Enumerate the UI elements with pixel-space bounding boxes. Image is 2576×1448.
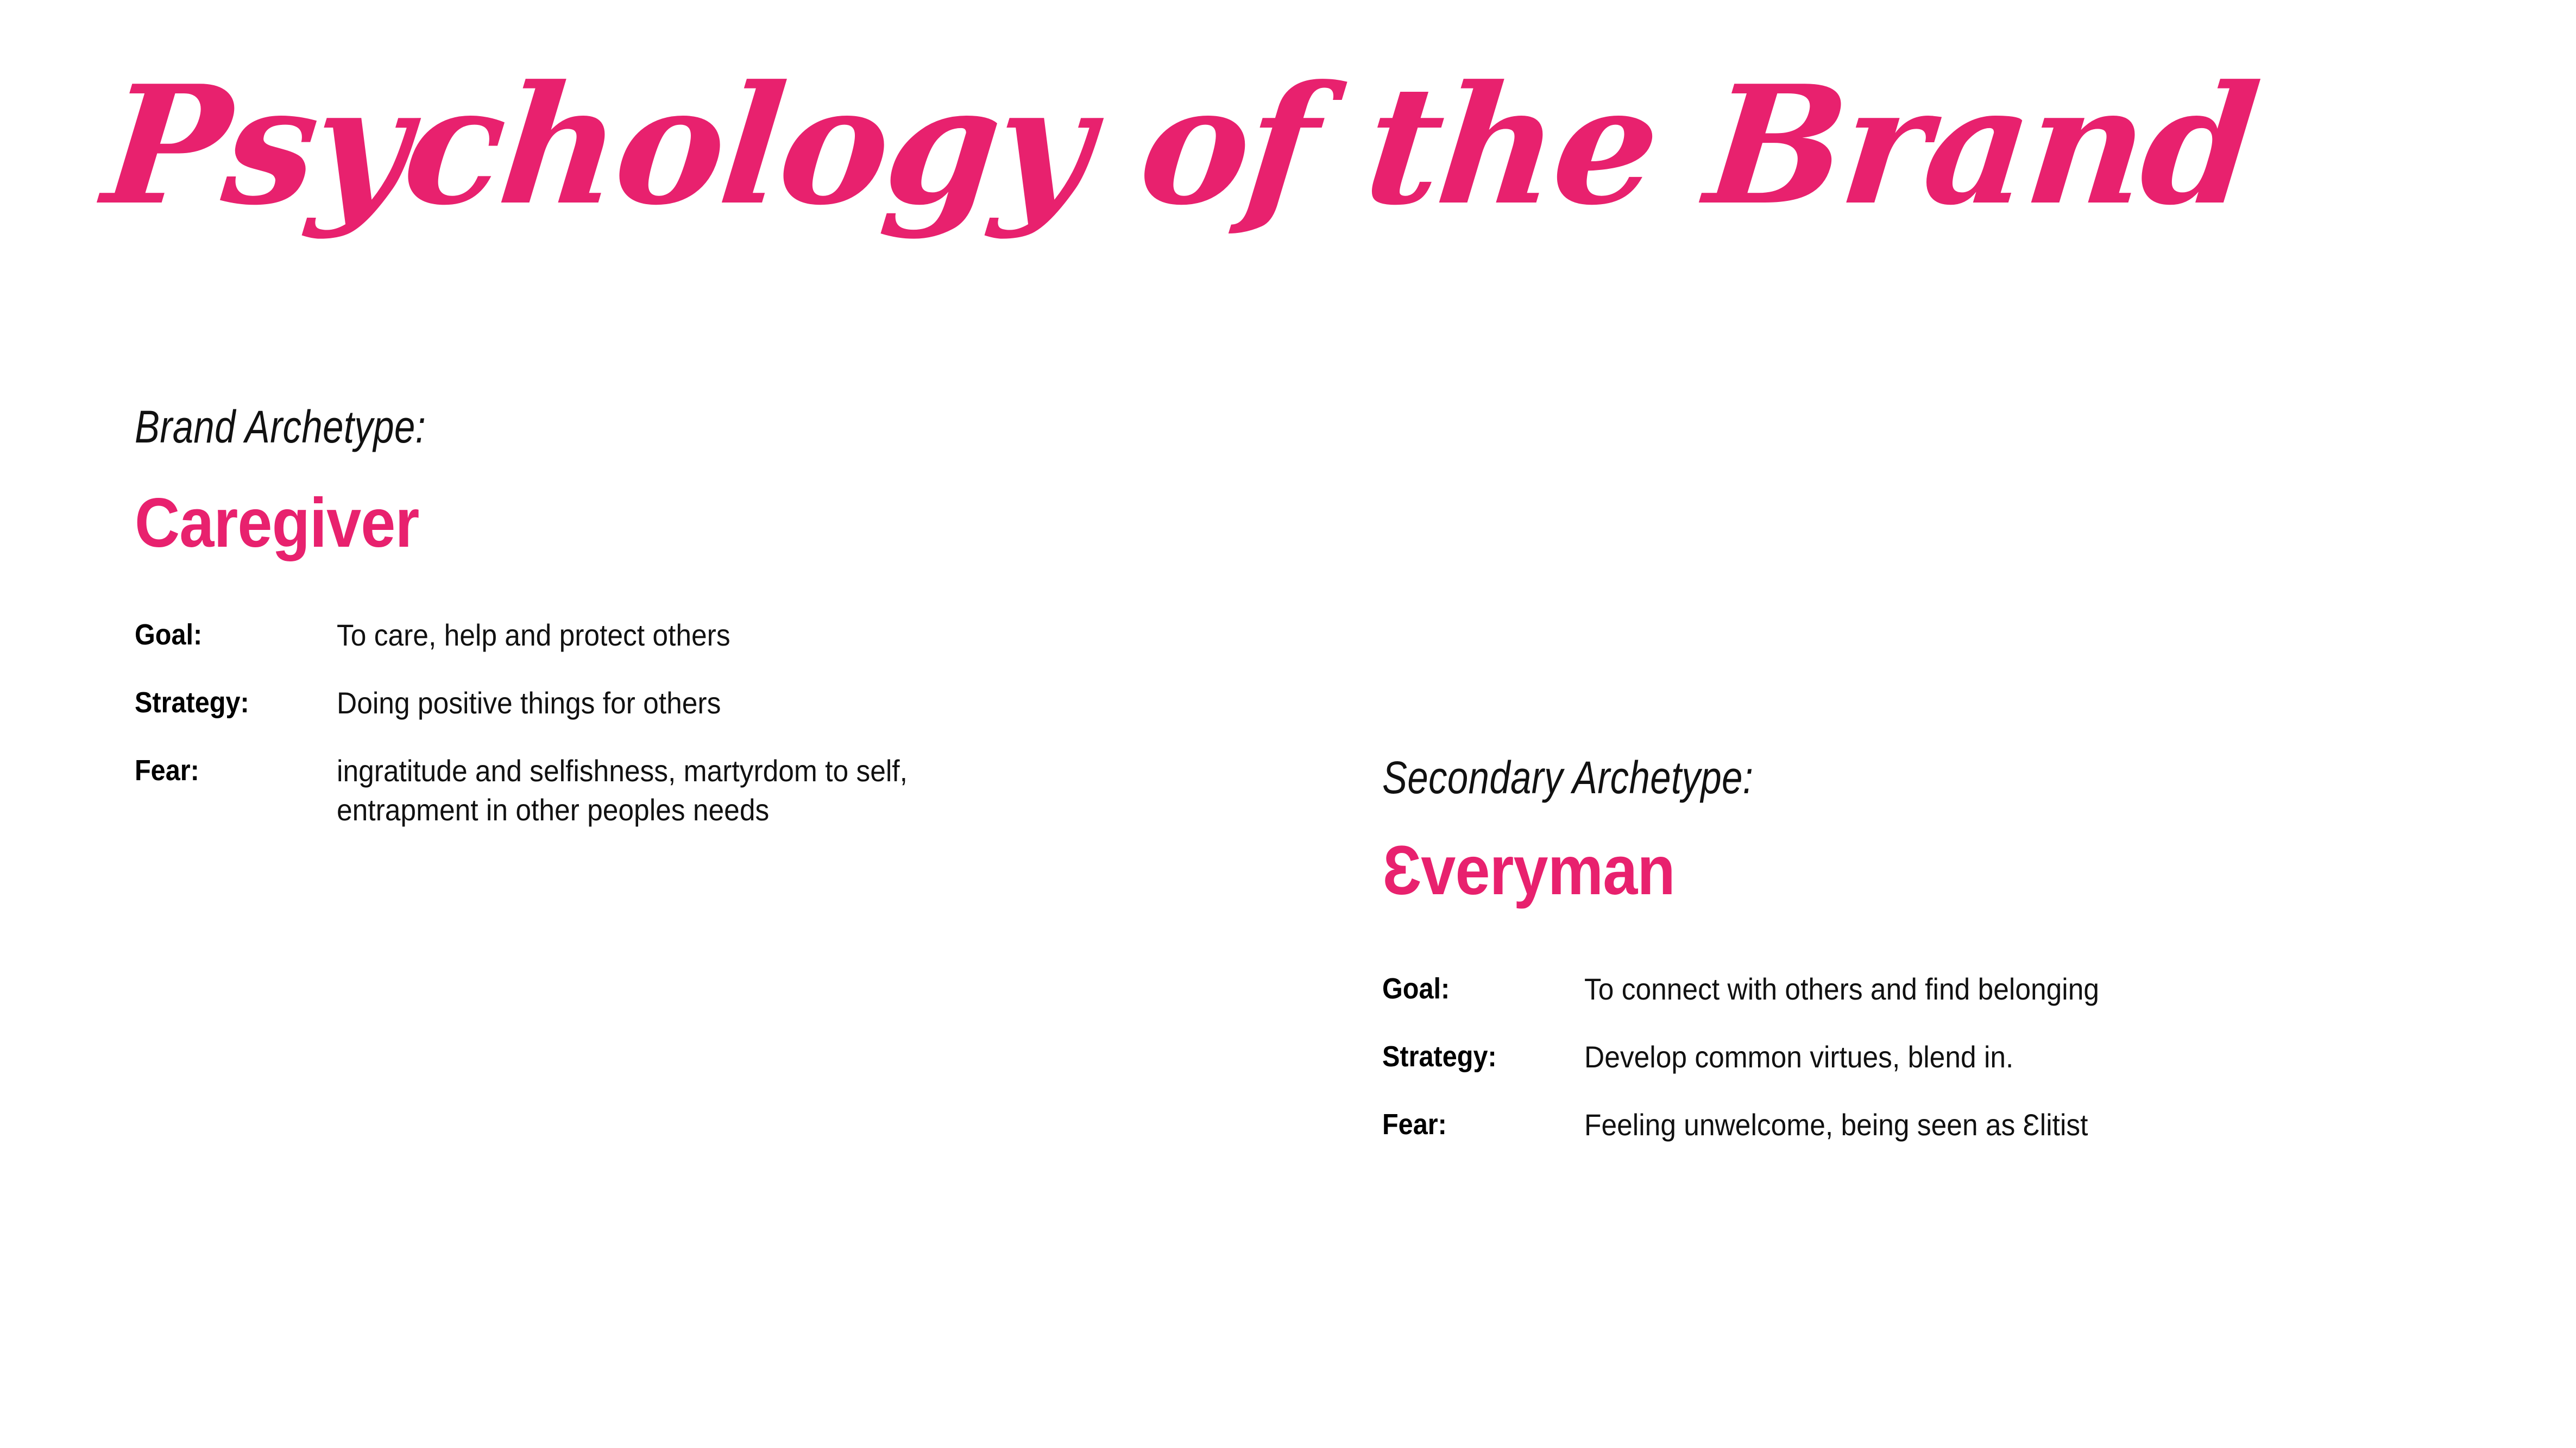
attribute-label-goal: Goal: [1382,970,1564,1008]
attribute-value-line: entrapment in other peoples needs [337,791,1100,830]
primary-attribute-list: Goal: To care, help and protect others S… [135,616,1167,830]
primary-archetype-name: Caregiver [135,489,1063,558]
attribute-value-strategy: Doing positive things for others [337,684,1100,723]
slide-canvas: Psychology of the Brand Brand Archetype:… [0,0,2576,1448]
attribute-label-goal: Goal: [135,616,317,654]
attribute-label-fear: Fear: [1382,1105,1564,1143]
attribute-value-fear: ingratitude and selfishness, martyrdom t… [337,751,1100,831]
secondary-attribute-list: Goal: To connect with others and find be… [1382,970,2414,1145]
attribute-value-line: Develop common virtues, blend in. [1584,1038,2348,1077]
attribute-value-strategy: Develop common virtues, blend in. [1584,1038,2348,1077]
attribute-value-fear: Feeling unwelcome, being seen as Ɛlitist [1584,1105,2348,1145]
attribute-label-fear: Fear: [135,751,317,789]
attribute-value-goal: To connect with others and find belongin… [1584,970,2348,1009]
attribute-value-line: Feeling unwelcome, being seen as Ɛlitist [1584,1105,2348,1145]
attribute-row-goal: Goal: To care, help and protect others [135,616,1167,655]
attribute-row-fear: Fear: ingratitude and selfishness, marty… [135,751,1167,831]
primary-archetype-kicker: Brand Archetype: [135,404,981,450]
page-title: Psychology of the Brand [98,64,2262,227]
attribute-label-strategy: Strategy: [1382,1038,1564,1076]
attribute-value-line: To care, help and protect others [337,616,1100,655]
attribute-row-goal: Goal: To connect with others and find be… [1382,970,2414,1009]
attribute-value-line: To connect with others and find belongin… [1584,970,2348,1009]
attribute-value-goal: To care, help and protect others [337,616,1100,655]
secondary-archetype-name: Ɛveryman [1382,836,2311,906]
attribute-row-strategy: Strategy: Develop common virtues, blend … [1382,1038,2414,1077]
attribute-value-line: Doing positive things for others [337,684,1100,723]
primary-archetype-block: Brand Archetype: Caregiver Goal: To care… [135,404,1167,830]
attribute-value-line: ingratitude and selfishness, martyrdom t… [337,751,1100,791]
attribute-label-strategy: Strategy: [135,684,317,722]
attribute-row-fear: Fear: Feeling unwelcome, being seen as Ɛ… [1382,1105,2414,1145]
attribute-row-strategy: Strategy: Doing positive things for othe… [135,684,1167,723]
secondary-archetype-block: Secondary Archetype: Ɛveryman Goal: To c… [1382,755,2414,1145]
secondary-archetype-kicker: Secondary Archetype: [1382,755,2228,800]
